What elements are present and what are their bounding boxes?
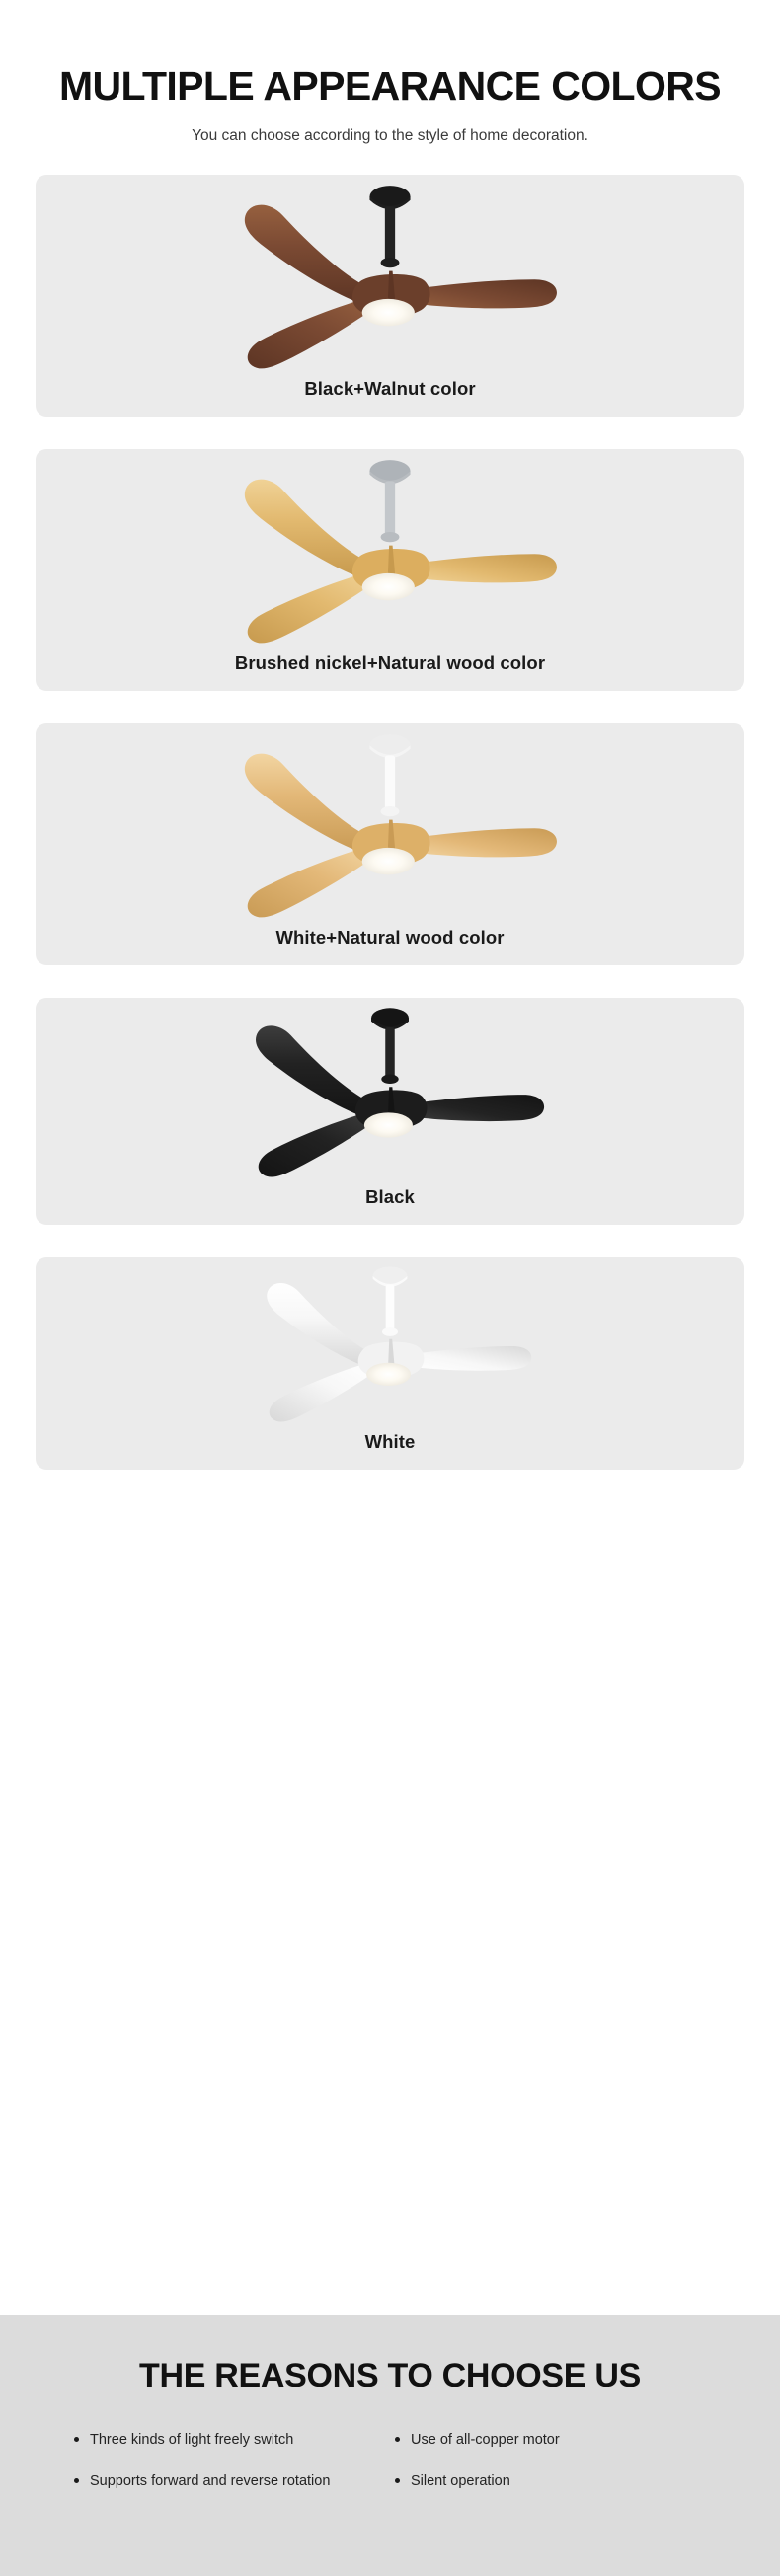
fan-blade-upper-left: [256, 1025, 367, 1116]
fan-downrod: [386, 1285, 395, 1332]
fan-led-globe: [366, 1363, 411, 1386]
fan-blade-lower-left: [259, 1112, 375, 1177]
fan-blade-right: [407, 1346, 532, 1371]
fan-blade-right: [410, 279, 557, 308]
bullet-icon: [395, 2437, 400, 2442]
product-card[interactable]: White+Natural wood color: [36, 723, 744, 965]
product-image: [36, 175, 744, 369]
product-card[interactable]: Black+Walnut color: [36, 175, 744, 417]
fan-led-globe: [362, 299, 415, 326]
product-caption: White: [36, 1431, 744, 1453]
product-caption: Black: [36, 1186, 744, 1208]
fan-blade-lower-left: [248, 847, 374, 917]
product-card[interactable]: Black: [36, 998, 744, 1225]
fan-blade-upper-left: [267, 1283, 369, 1366]
bullet-icon: [74, 2437, 79, 2442]
fan-downrod: [385, 207, 395, 264]
fan-downrod: [385, 756, 395, 812]
fan-downrod-collar: [381, 532, 400, 542]
fan-downrod-collar: [381, 806, 400, 816]
reasons-list: Three kinds of light freely switchUse of…: [74, 2431, 706, 2491]
fan-downrod-collar: [382, 1327, 398, 1336]
reasons-title: THE REASONS TO CHOOSE US: [0, 2315, 780, 2395]
reason-item: Silent operation: [395, 2472, 706, 2491]
ceiling-fan-illustration: [36, 449, 744, 644]
fan-blade-lower-left: [248, 572, 374, 643]
ceiling-fan-illustration: [36, 723, 744, 918]
reason-item: Three kinds of light freely switch: [74, 2431, 385, 2450]
product-caption: Brushed nickel+Natural wood color: [36, 652, 744, 674]
fan-downrod-collar: [381, 258, 400, 267]
fan-led-globe: [362, 573, 415, 600]
product-image: [36, 723, 744, 918]
product-card[interactable]: White: [36, 1257, 744, 1470]
product-caption: White+Natural wood color: [36, 927, 744, 948]
product-image: [36, 1257, 744, 1422]
ceiling-fan-illustration: [36, 175, 744, 369]
fan-blade-upper-left: [245, 754, 365, 853]
fan-blade-lower-left: [270, 1362, 377, 1422]
reason-text: Use of all-copper motor: [411, 2431, 560, 2450]
product-image: [36, 449, 744, 644]
fan-blade-right: [408, 1095, 544, 1121]
reasons-section: THE REASONS TO CHOOSE US Three kinds of …: [0, 2315, 780, 2576]
fan-downrod: [385, 1027, 394, 1079]
product-caption: Black+Walnut color: [36, 378, 744, 400]
bullet-icon: [74, 2478, 79, 2483]
fan-led-globe: [364, 1112, 413, 1137]
reason-item: Supports forward and reverse rotation: [74, 2472, 385, 2491]
reason-text: Supports forward and reverse rotation: [90, 2472, 330, 2491]
product-card[interactable]: Brushed nickel+Natural wood color: [36, 449, 744, 691]
product-image: [36, 998, 744, 1177]
bullet-icon: [395, 2478, 400, 2483]
page-subtitle: You can choose according to the style of…: [0, 127, 780, 145]
fan-blade-upper-left: [245, 205, 365, 304]
fan-blade-upper-left: [245, 480, 365, 578]
reason-text: Three kinds of light freely switch: [90, 2431, 293, 2450]
reason-text: Silent operation: [411, 2472, 510, 2491]
fan-downrod: [385, 482, 395, 538]
fan-downrod-collar: [381, 1075, 398, 1084]
ceiling-fan-illustration: [36, 1257, 744, 1422]
fan-led-globe: [362, 848, 415, 874]
reason-item: Use of all-copper motor: [395, 2431, 706, 2450]
fan-blade-lower-left: [248, 298, 374, 368]
fan-blade-right: [410, 554, 557, 582]
ceiling-fan-illustration: [36, 998, 744, 1177]
page-header: MULTIPLE APPEARANCE COLORS You can choos…: [0, 0, 780, 145]
page-title: MULTIPLE APPEARANCE COLORS: [0, 65, 780, 108]
fan-blade-right: [410, 828, 557, 857]
product-card-list: Black+Walnut colorBrushed nickel+Natural…: [0, 175, 780, 1470]
